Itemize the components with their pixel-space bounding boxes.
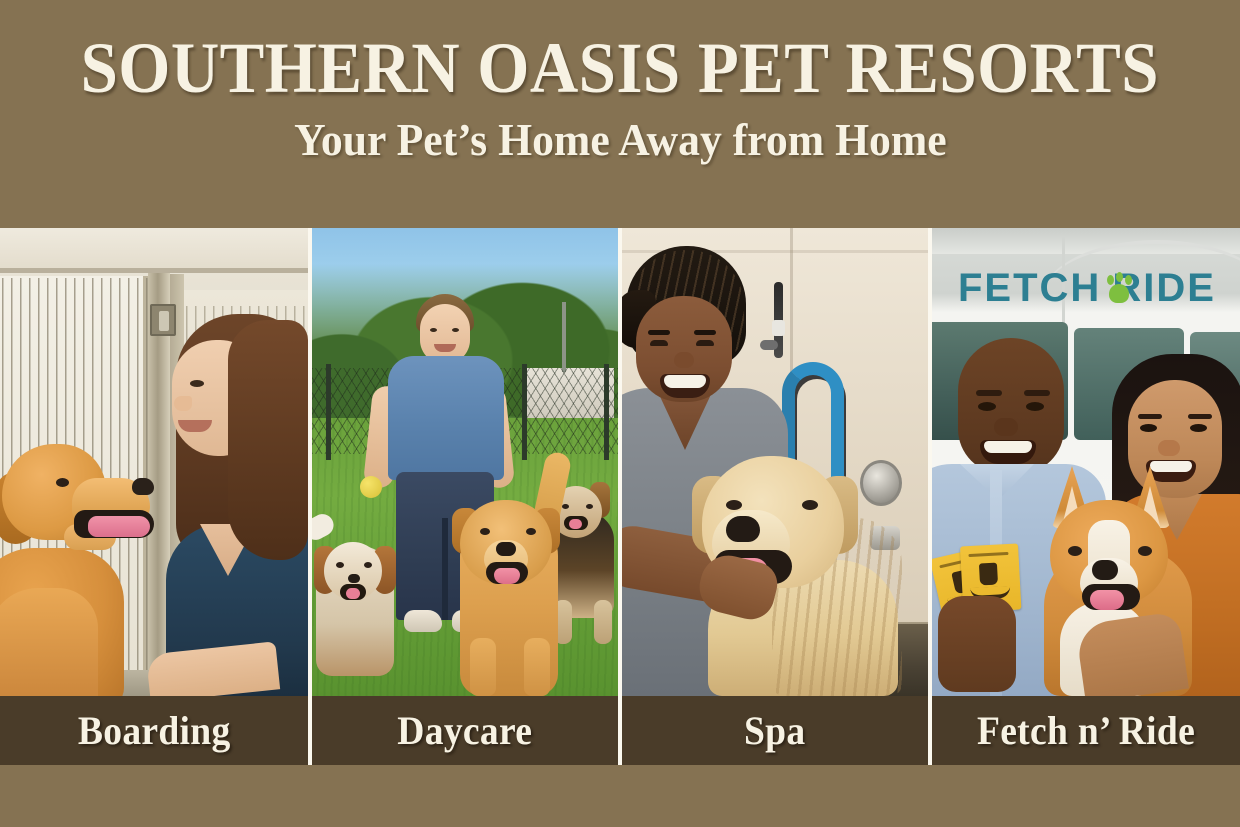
green-paw-icon xyxy=(1103,271,1110,305)
service-photo-strip: FETCH RIDE xyxy=(0,228,1240,696)
page-title: SOUTHERN OASIS PET RESORTS xyxy=(81,30,1159,106)
caption-spa-label: Spa xyxy=(744,707,805,754)
caption-daycare[interactable]: Daycare xyxy=(312,696,618,765)
spa-scene xyxy=(622,228,928,696)
panel-boarding-photo[interactable] xyxy=(0,228,308,696)
van-logo: FETCH RIDE xyxy=(958,264,1216,312)
boarding-scene xyxy=(0,228,308,696)
caption-fetch-n-ride[interactable]: Fetch n’ Ride xyxy=(932,696,1240,765)
page-subtitle: Your Pet’s Home Away from Home xyxy=(294,114,947,166)
van-logo-word-right: RIDE xyxy=(1112,267,1216,309)
panel-daycare-photo[interactable] xyxy=(312,228,618,696)
banner-footer xyxy=(0,765,1240,827)
caption-boarding[interactable]: Boarding xyxy=(0,696,308,765)
fetch-n-ride-scene: FETCH RIDE xyxy=(932,228,1240,696)
shower-knob-icon xyxy=(860,460,902,506)
daycare-scene xyxy=(312,228,618,696)
tennis-ball xyxy=(360,476,382,498)
caption-fetch-n-ride-label: Fetch n’ Ride xyxy=(977,707,1195,754)
caption-daycare-label: Daycare xyxy=(398,707,533,754)
pet-resort-banner: SOUTHERN OASIS PET RESORTS Your Pet’s Ho… xyxy=(0,0,1240,827)
panel-fetch-n-ride-photo[interactable]: FETCH RIDE xyxy=(932,228,1240,696)
van-logo-word-left: FETCH xyxy=(958,267,1101,309)
service-caption-bar: Boarding Daycare Spa Fetch n’ Ride xyxy=(0,696,1240,765)
banner-header: SOUTHERN OASIS PET RESORTS Your Pet’s Ho… xyxy=(0,0,1240,228)
panel-spa-photo[interactable] xyxy=(622,228,928,696)
caption-spa[interactable]: Spa xyxy=(622,696,928,765)
caption-boarding-label: Boarding xyxy=(78,707,231,754)
kennel-latch-icon xyxy=(150,304,176,336)
